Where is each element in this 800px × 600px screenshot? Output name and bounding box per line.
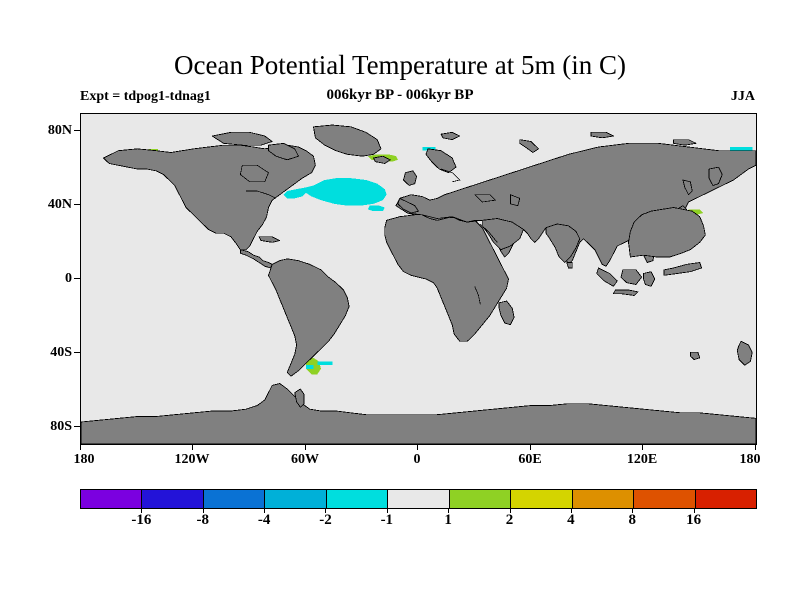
ytick-label-40n: 40N (48, 198, 72, 212)
colorbar-tick-label-7: 4 (567, 512, 575, 529)
colorbar-tick-label-4: -1 (381, 512, 394, 529)
ytick-80n (74, 130, 80, 131)
xtick-label-180w: 180 (74, 452, 95, 468)
world-map (81, 114, 756, 444)
xtick-label-180e: 180 (740, 452, 761, 468)
map-plot-area (80, 113, 757, 445)
xtick-label-120w: 120W (175, 452, 210, 468)
xtick-180e (755, 444, 756, 450)
colorbar-segment-4 (326, 490, 387, 508)
colorbar-tick-label-5: 1 (444, 512, 452, 529)
colorbar-tick-label-3: -2 (319, 512, 332, 529)
colorbar-tick-label-2: -4 (258, 512, 271, 529)
colorbar-tick-label-1: -8 (196, 512, 209, 529)
ytick-label-80s: 80S (50, 420, 72, 434)
xtick-label-60w: 60W (291, 452, 319, 468)
anomaly-falkland-cold-patch (317, 362, 332, 366)
ytick-40s (74, 352, 80, 353)
colorbar (80, 489, 757, 509)
ytick-label-40s: 40S (50, 346, 72, 360)
xtick-60e (530, 444, 531, 450)
season-label: JJA (731, 89, 755, 105)
xtick-label-60e: 60E (518, 452, 541, 468)
colorbar-segment-1 (141, 490, 202, 508)
page-title: Ocean Potential Temperature at 5m (in C) (0, 50, 800, 80)
colorbar-segment-7 (510, 490, 571, 508)
colorbar-segment-9 (633, 490, 694, 508)
ytick-label-80n: 80N (48, 124, 72, 138)
xtick-label-0: 0 (414, 452, 421, 468)
xtick-60w (305, 444, 306, 450)
ytick-0 (74, 278, 80, 279)
anomaly-falkland-cold-patch-2 (306, 365, 314, 369)
xtick-label-120e: 120E (627, 452, 657, 468)
colorbar-segment-2 (203, 490, 264, 508)
colorbar-segment-0 (81, 490, 141, 508)
xtick-180w (80, 444, 81, 450)
xtick-120e (642, 444, 643, 450)
colorbar-tick-label-8: 8 (629, 512, 637, 529)
ytick-80s (74, 426, 80, 427)
figure-canvas: Ocean Potential Temperature at 5m (in C)… (0, 0, 800, 600)
colorbar-segment-3 (264, 490, 325, 508)
colorbar-segment-10 (695, 490, 756, 508)
colorbar-segment-8 (572, 490, 633, 508)
colorbar-tick-label-9: 16 (686, 512, 701, 529)
xtick-120w (192, 444, 193, 450)
colorbar-tick-label-0: -16 (131, 512, 151, 529)
colorbar-segment-5 (387, 490, 448, 508)
colorbar-segment-6 (449, 490, 510, 508)
experiment-label: Expt = tdpog1-tdnag1 (80, 89, 211, 105)
colorbar-tick-label-6: 2 (506, 512, 514, 529)
ytick-40n (74, 204, 80, 205)
ytick-label-0: 0 (65, 272, 72, 286)
xtick-0 (417, 444, 418, 450)
